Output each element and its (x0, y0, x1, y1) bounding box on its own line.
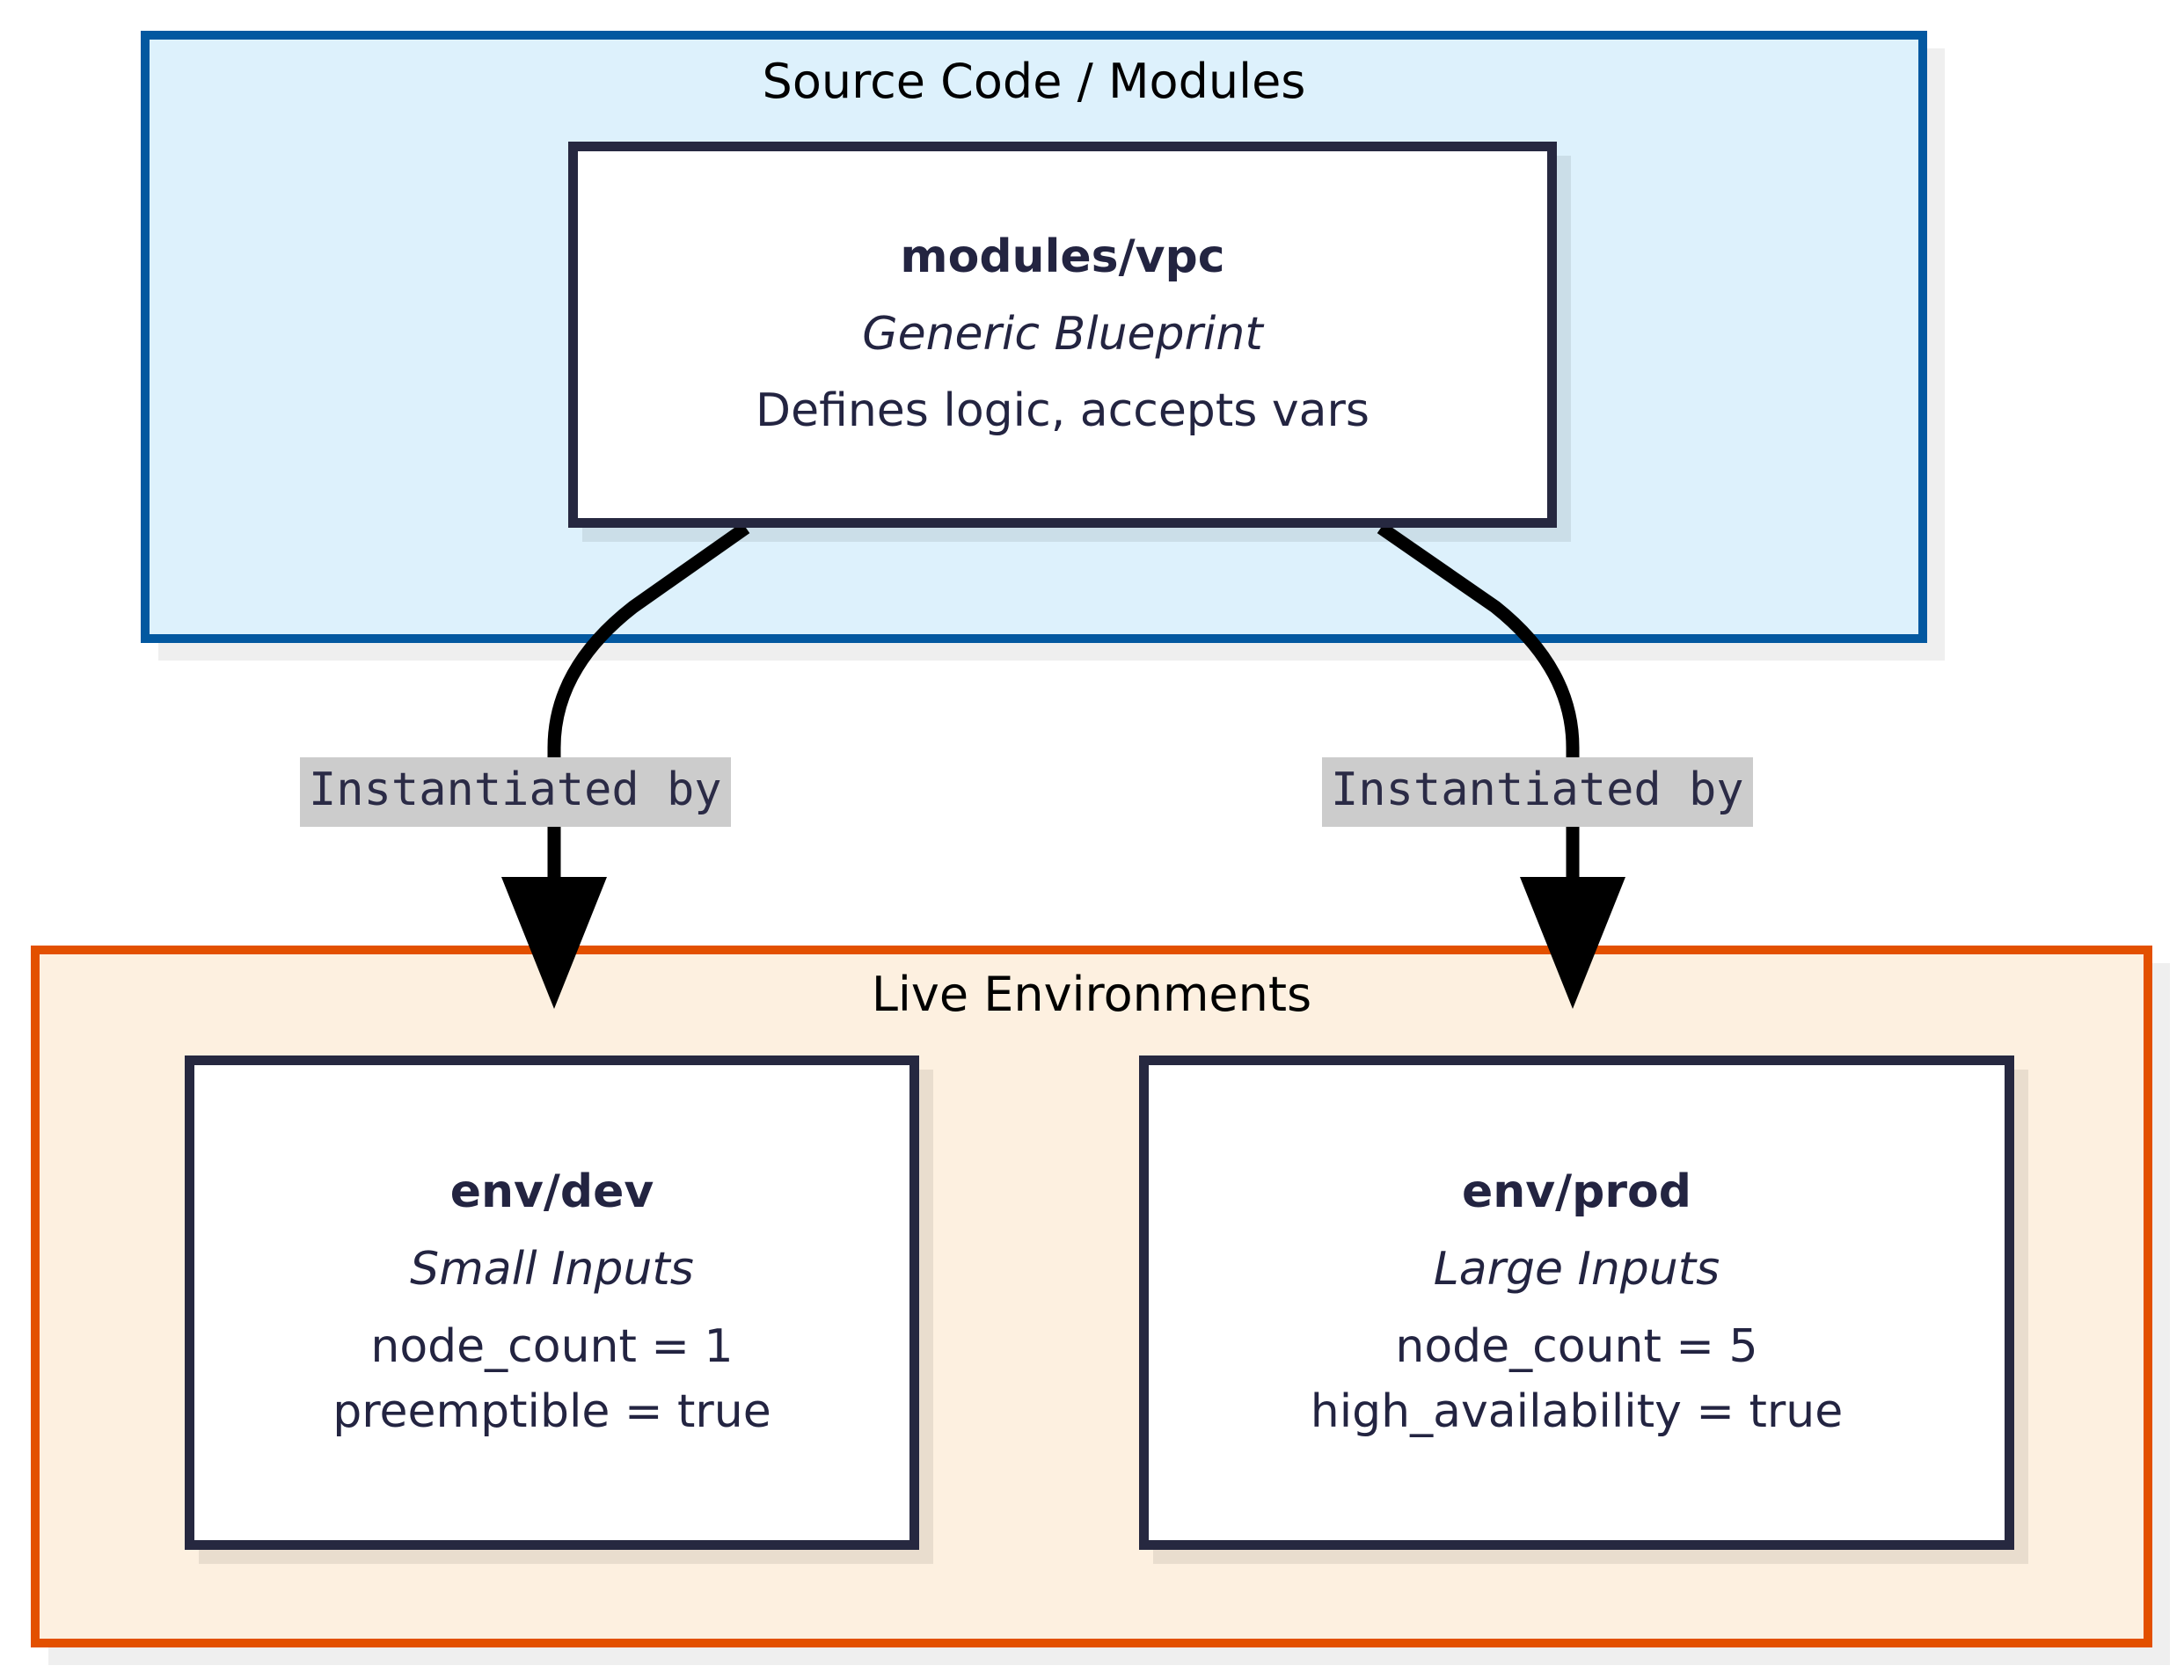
node-env-prod-body: env/prod Large Inputs node_count = 5 hig… (1139, 1055, 2014, 1550)
node-modules-vpc-body: modules/vpc Generic Blueprint Defines lo… (568, 142, 1557, 528)
node-modules-vpc-role: Generic Blueprint (862, 303, 1262, 368)
subgraph-live-title: Live Environments (31, 967, 2152, 1022)
node-env-dev[interactable]: env/dev Small Inputs node_count = 1 pree… (185, 1055, 919, 1550)
node-env-dev-var-node-count: node_count = 1 (370, 1315, 733, 1380)
node-env-dev-name: env/dev (450, 1160, 654, 1225)
node-env-dev-role: Small Inputs (410, 1238, 694, 1303)
node-modules-vpc[interactable]: modules/vpc Generic Blueprint Defines lo… (568, 142, 1557, 528)
node-modules-vpc-detail: Defines logic, accepts vars (756, 379, 1370, 444)
node-env-prod[interactable]: env/prod Large Inputs node_count = 5 hig… (1139, 1055, 2014, 1550)
edge-label-instantiated-by-dev: Instantiated by (300, 757, 731, 827)
node-env-prod-var-high-availability: high_availability = true (1311, 1380, 1844, 1445)
node-env-prod-var-node-count: node_count = 5 (1395, 1315, 1757, 1380)
subgraph-source-title: Source Code / Modules (141, 54, 1927, 109)
node-modules-vpc-name: modules/vpc (900, 225, 1224, 290)
node-env-prod-name: env/prod (1462, 1160, 1691, 1225)
diagram-canvas: Source Code / Modules Live Environments … (0, 0, 2184, 1680)
edge-label-instantiated-by-prod: Instantiated by (1322, 757, 1753, 827)
node-env-prod-role: Large Inputs (1434, 1238, 1720, 1303)
node-env-dev-var-preemptible: preemptible = true (332, 1380, 771, 1445)
node-env-dev-body: env/dev Small Inputs node_count = 1 pree… (185, 1055, 919, 1550)
